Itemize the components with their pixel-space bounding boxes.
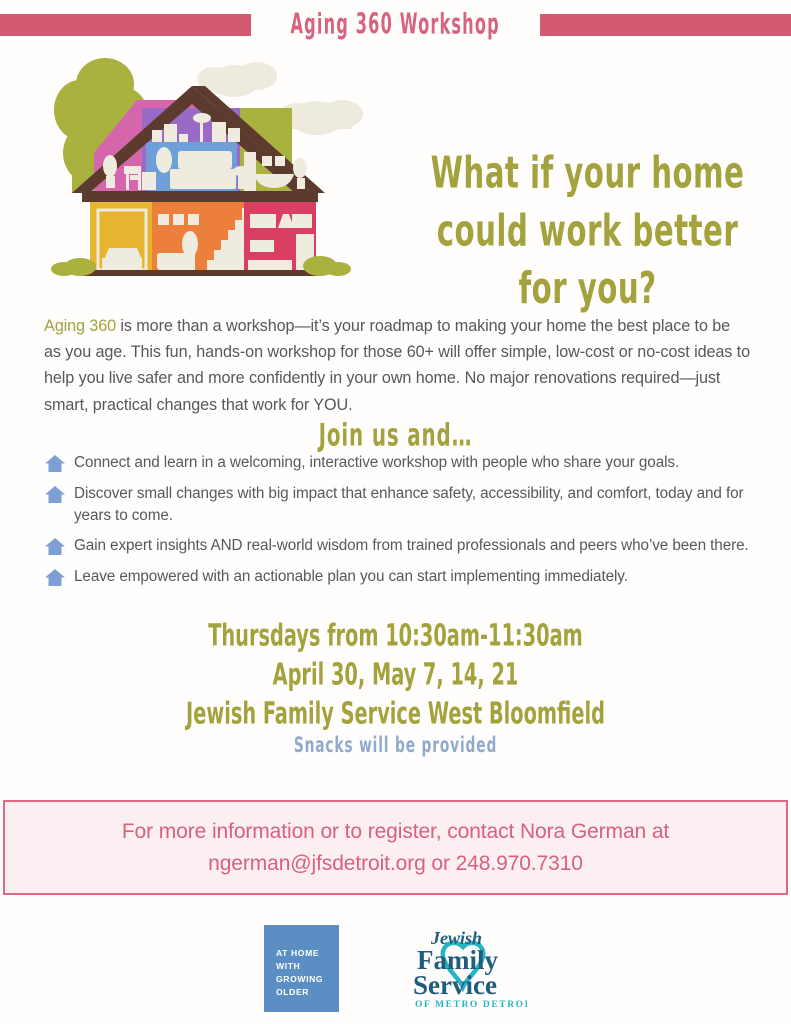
headline-line-2: could work better for you? — [418, 203, 757, 318]
snacks-note: Snacks will be provided — [59, 733, 731, 758]
headline-line-1: What if your home — [418, 145, 757, 203]
contact-line-1: For more information or to register, con… — [122, 816, 669, 848]
ahwgo-line-3: GROWING — [276, 973, 339, 986]
jfs-word-service: Service — [413, 970, 497, 1000]
intro-text: is more than a workshop—it’s your roadma… — [44, 317, 750, 414]
list-item-label: Connect and learn in a welcoming, intera… — [74, 452, 679, 474]
header-band-right — [540, 14, 791, 36]
list-item: Leave empowered with an actionable plan … — [44, 566, 750, 588]
ground-line — [82, 270, 322, 276]
flyer-page: Aging 360 Workshop — [0, 0, 791, 1024]
house-icon — [44, 537, 66, 557]
page-title: Aging 360 Workshop — [283, 11, 508, 39]
list-item: Gain expert insights AND real-world wisd… — [44, 535, 750, 557]
house-icon — [44, 485, 66, 505]
event-location: Jewish Family Service West Bloomfield — [55, 696, 735, 731]
list-item-label: Leave empowered with an actionable plan … — [74, 566, 628, 588]
headline: What if your home could work better for … — [418, 145, 757, 318]
event-time: Thursdays from 10:30am-11:30am — [55, 618, 735, 653]
brand-name: Aging 360 — [44, 317, 116, 335]
footer-logos: AT HOME WITH GROWING OLDER Jewish Family… — [0, 925, 791, 1013]
list-item: Connect and learn in a welcoming, intera… — [44, 452, 750, 474]
join-us-heading: Join us and… — [59, 418, 731, 454]
ahwgo-line-1: AT HOME — [276, 947, 339, 960]
intro-paragraph: Aging 360 is more than a workshop—it’s y… — [44, 313, 750, 418]
list-item-label: Gain expert insights AND real-world wisd… — [74, 535, 749, 557]
list-item: Discover small changes with big impact t… — [44, 483, 750, 526]
cutaway-house-illustration — [42, 48, 387, 288]
header-band-left — [0, 14, 251, 36]
floor-beam — [82, 191, 318, 202]
house-icon — [44, 454, 66, 474]
contact-line-2[interactable]: ngerman@jfsdetroit.org or 248.970.7310 — [208, 848, 583, 880]
jewish-family-service-logo: Jewish Family Service OF METRO DETROIT — [401, 925, 527, 1013]
list-item-label: Discover small changes with big impact t… — [74, 483, 750, 526]
hero-section: What if your home could work better for … — [0, 40, 791, 300]
at-home-with-growing-older-logo: AT HOME WITH GROWING OLDER — [264, 925, 339, 1012]
event-details: Thursdays from 10:30am-11:30am April 30,… — [0, 618, 791, 754]
jfs-tagline: OF METRO DETROIT — [415, 1000, 527, 1010]
header-band: Aging 360 Workshop — [0, 14, 791, 36]
event-dates: April 30, May 7, 14, 21 — [55, 657, 735, 692]
house-icon — [44, 568, 66, 588]
ahwgo-line-4: OLDER — [276, 986, 339, 999]
ahwgo-line-2: WITH — [276, 960, 339, 973]
contact-box: For more information or to register, con… — [3, 800, 788, 895]
benefits-list: Connect and learn in a welcoming, intera… — [44, 452, 750, 597]
